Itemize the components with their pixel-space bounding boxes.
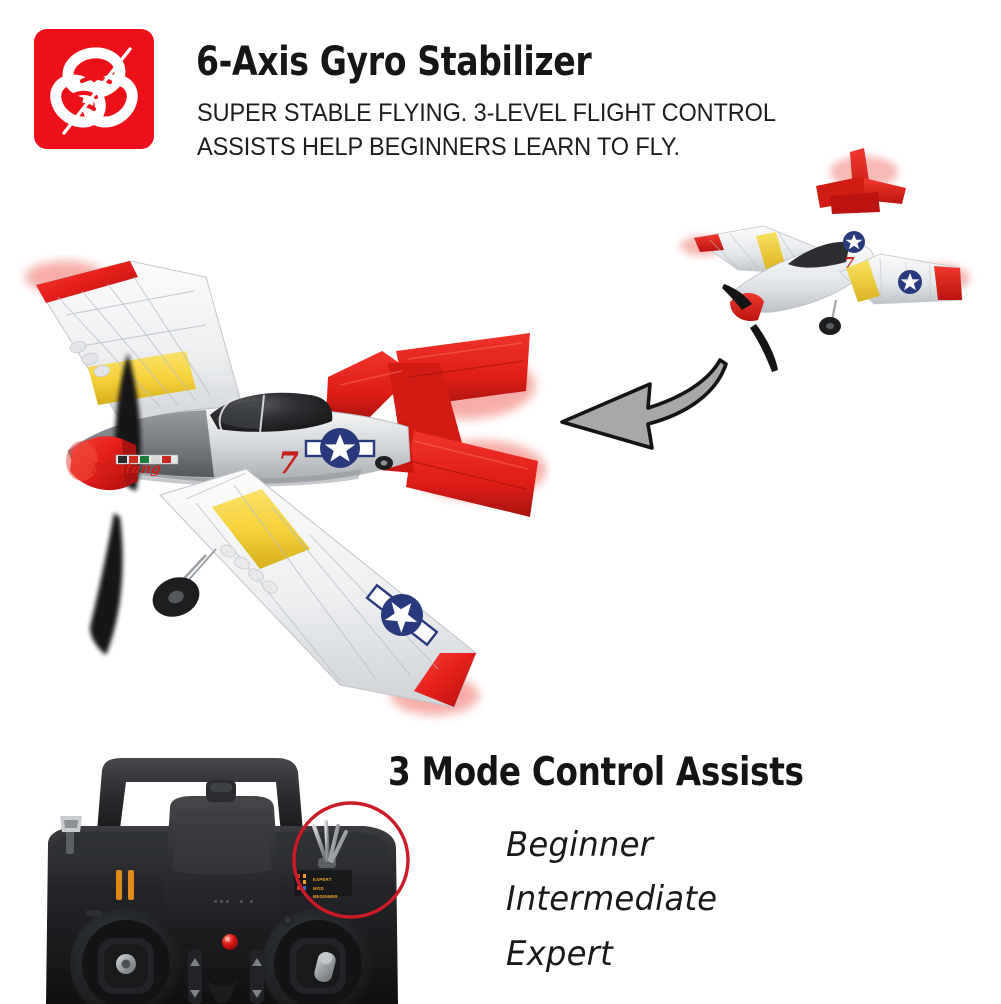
power-led [222, 934, 238, 950]
right-trim-buttons[interactable] [250, 950, 264, 1004]
left-trim-buttons[interactable] [188, 950, 202, 1004]
p51-mustang-rc-plane-main: Mustang 7 [10, 255, 550, 745]
legend-beginner: BEGINNER [313, 893, 365, 902]
fuselage-number: 7 [278, 446, 299, 481]
page-title: 6-Axis Gyro Stabilizer [196, 41, 914, 83]
gyro-stabilizer-icon [34, 29, 154, 149]
inset-wing-roundel [898, 270, 922, 294]
mode-section-title: 3 Mode Control Assists [388, 750, 804, 795]
mode-item-beginner: Beginner [506, 818, 905, 872]
mode-item-intermediate: Intermediate [506, 872, 905, 926]
lower-wing [160, 469, 476, 707]
legend-expert: EXPERT [313, 876, 365, 885]
gyro-stabilizer-badge [34, 29, 154, 149]
inset-fuselage-roundel [843, 231, 865, 253]
mode-list: Beginner Intermediate Expert [506, 818, 926, 981]
inset-tail [816, 148, 906, 214]
mode-item-expert: Expert [506, 927, 905, 981]
landing-gear [147, 549, 216, 624]
mode-switch-legend: EXPERT MOD BEGINNER [303, 876, 365, 906]
inset-landing-gear [819, 300, 841, 335]
curved-transition-arrow [530, 338, 740, 456]
svg-text:Mustang: Mustang [90, 461, 162, 477]
feature-panel: 6-Axis Gyro Stabilizer SUPER STABLE FLYI… [0, 0, 1001, 1001]
legend-mod: MOD [313, 885, 365, 894]
upper-wing [36, 261, 242, 433]
